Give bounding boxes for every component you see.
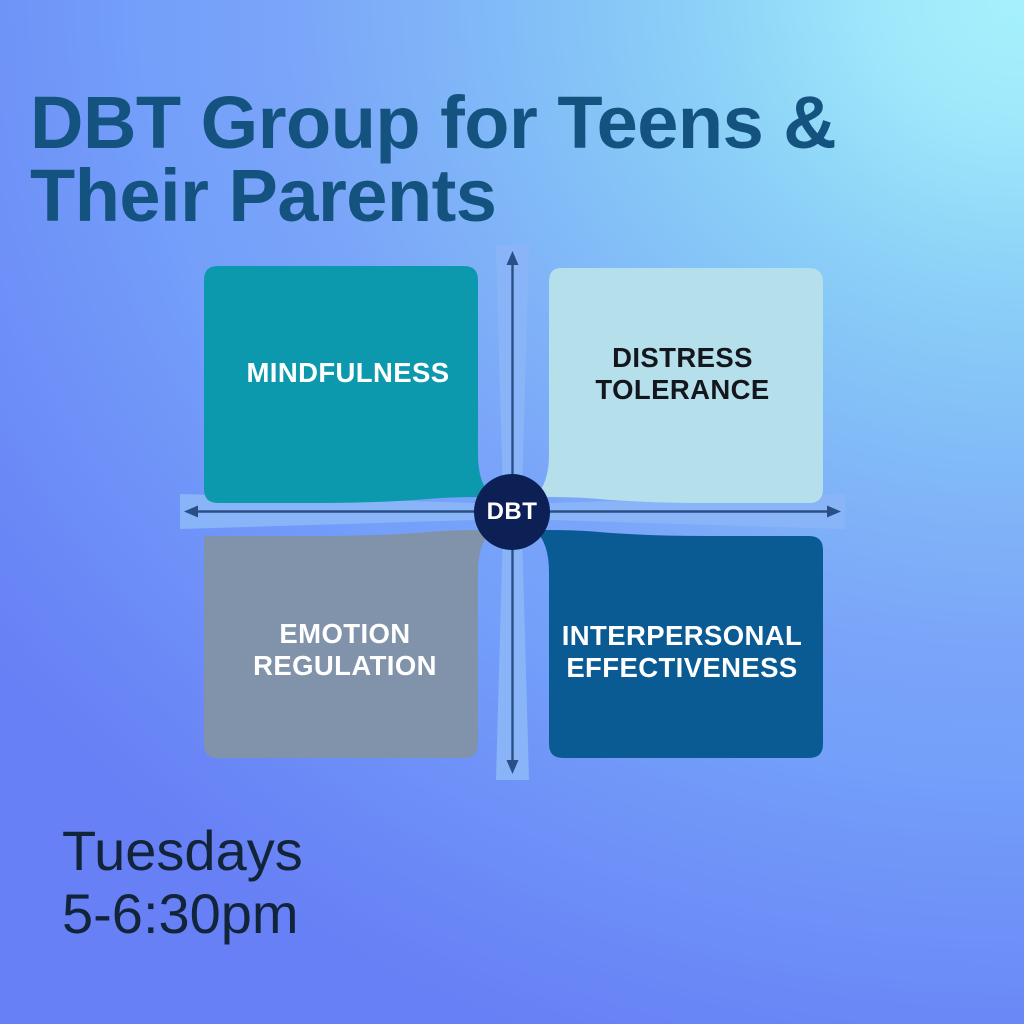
dbt-center-badge: DBT — [474, 474, 550, 550]
dbt-center-badge-label: DBT — [487, 498, 538, 526]
page-title: DBT Group for Teens & Their Parents — [30, 86, 970, 233]
quadrant-label-mindfulness: MINDFULNESS — [204, 357, 492, 389]
quadrant-label-emotion-regulation: EMOTION REGULATION — [202, 618, 488, 682]
quadrant-label-interpersonal-effectiveness: INTERPERSONAL EFFECTIVENESS — [537, 620, 827, 684]
quadrant-label-distress-tolerance: DISTRESS TOLERANCE — [540, 342, 825, 406]
dbt-group-poster: DBT Group for Teens & Their Parents — [0, 0, 1024, 1024]
schedule-text: Tuesdays 5-6:30pm — [62, 820, 303, 945]
